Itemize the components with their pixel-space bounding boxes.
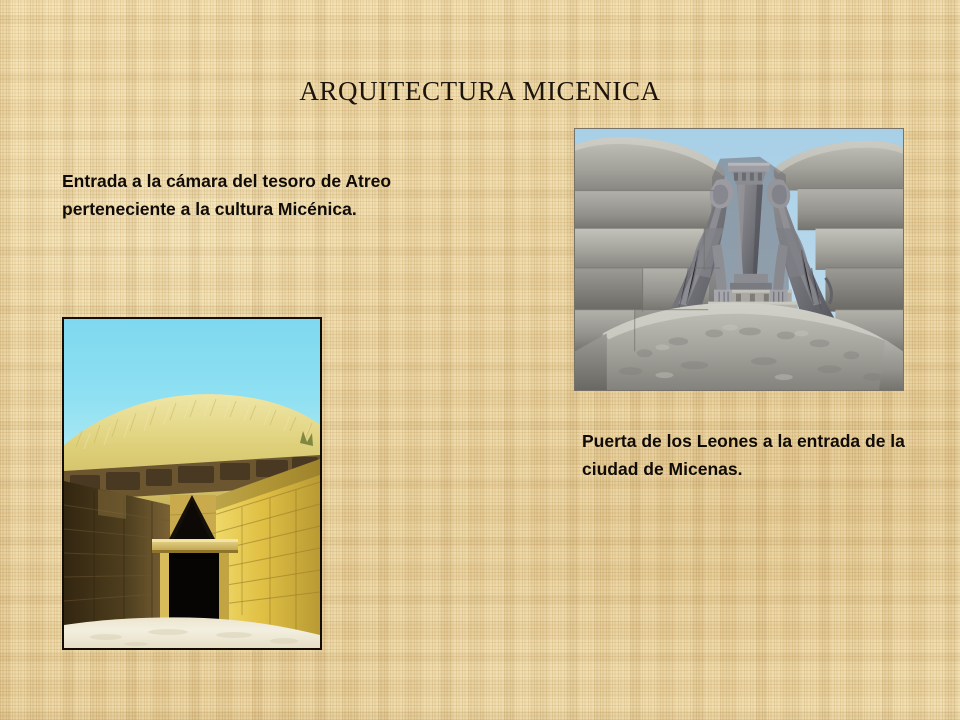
page-title: ARQUITECTURA MICENICA (0, 76, 960, 107)
caption-lion-gate: Puerta de los Leones a la entrada de la … (582, 427, 912, 484)
caption-treasury-of-atreus: Entrada a la cámara del tesoro de Atreo … (62, 167, 392, 224)
image-treasury-of-atreus (62, 317, 322, 650)
slide-canvas: ARQUITECTURA MICENICA Entrada a la cámar… (0, 0, 960, 720)
image-lion-gate (574, 128, 904, 391)
lion-gate-illustration (575, 129, 903, 390)
treasury-of-atreus-illustration (64, 319, 320, 648)
